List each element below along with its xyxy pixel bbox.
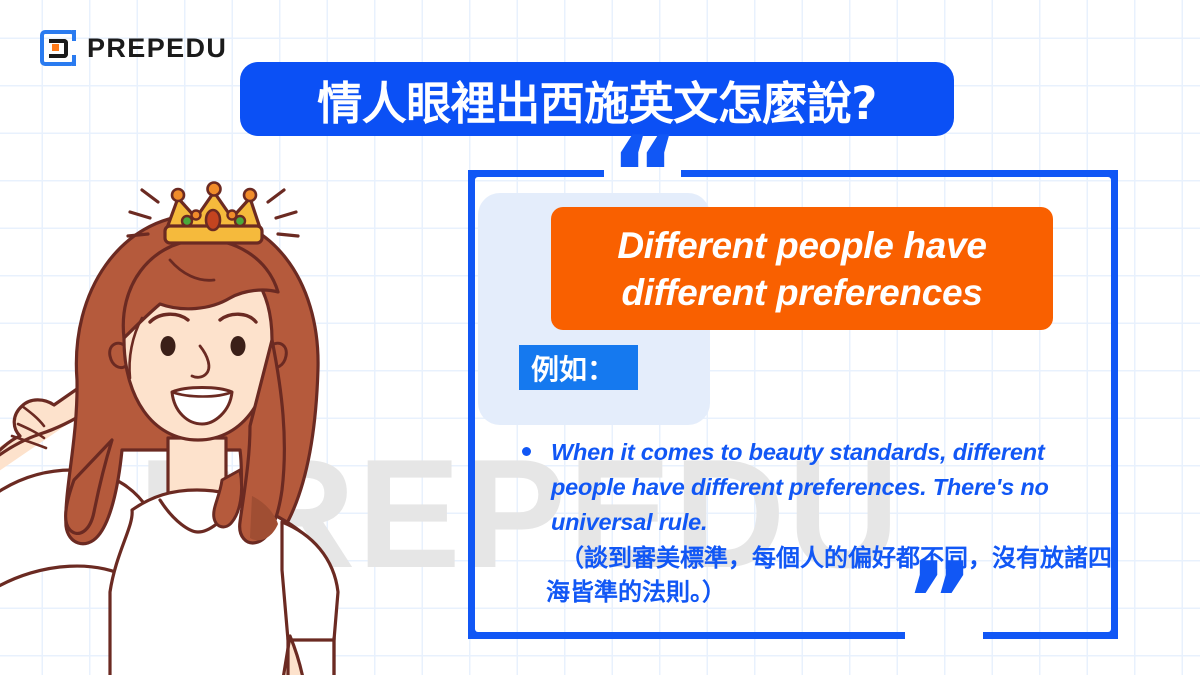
page-title: 情人眼裡出西施英文怎麼說? xyxy=(317,67,877,132)
frame-left-edge xyxy=(468,170,475,639)
title-banner: 情人眼裡出西施英文怎麼說? xyxy=(240,62,954,136)
frame-top-right-segment xyxy=(681,170,1118,177)
frame-corner-bottom-right xyxy=(1094,615,1118,639)
prepedu-bracket-logo-icon xyxy=(40,30,76,66)
frame-corner-bottom-left xyxy=(468,615,492,639)
bullet-point-icon xyxy=(522,447,531,456)
example-english-sentence: When it comes to beauty standards, diffe… xyxy=(551,435,1106,539)
example-label-tag: 例如： xyxy=(519,345,638,390)
key-phrase-line-2: different preferences xyxy=(621,274,982,311)
frame-corner-top-right xyxy=(1094,170,1118,194)
frame-corner-top-left xyxy=(468,170,492,194)
woman-with-crown-illustration xyxy=(0,140,412,675)
example-label-text: 例如： xyxy=(531,348,615,388)
brand-logo-text: PREPEDU xyxy=(87,33,227,64)
key-phrase-box: Different people have different preferen… xyxy=(551,207,1053,330)
frame-bottom-left-segment xyxy=(468,632,905,639)
key-phrase-line-1: Different people have xyxy=(617,227,986,264)
brand-logo[interactable]: PREPEDU xyxy=(40,30,227,66)
example-chinese-translation: （談到審美標準，每個人的偏好都不同，沒有放諸四海皆準的法則。） xyxy=(546,541,1112,609)
poster-canvas: PREPEDU PREPEDU 情人眼裡出西施英文怎麼說? xyxy=(0,0,1200,675)
frame-right-edge xyxy=(1111,170,1118,639)
